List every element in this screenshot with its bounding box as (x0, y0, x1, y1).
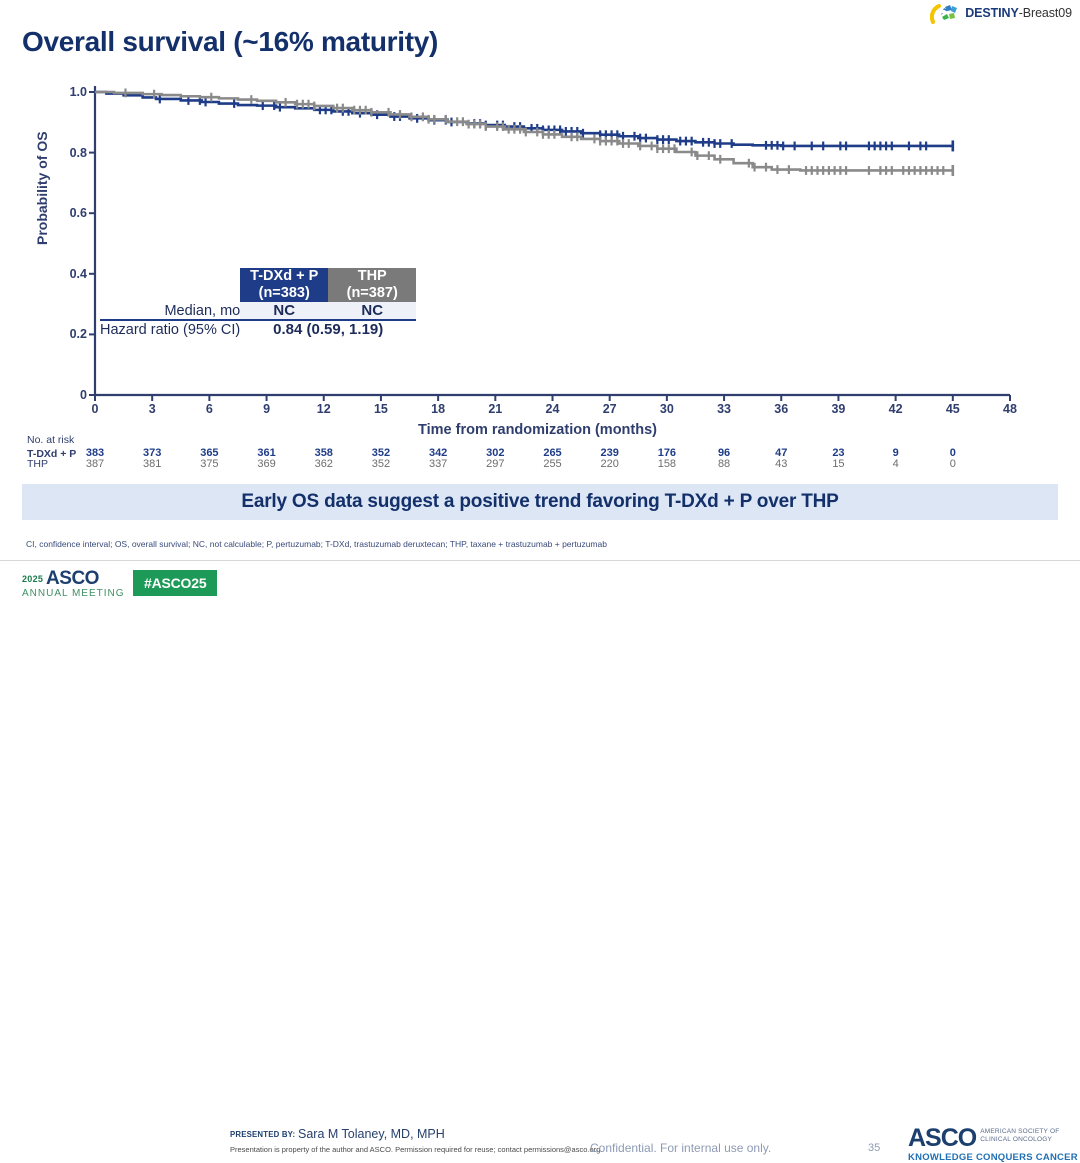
median-label: Median, mo (100, 302, 240, 320)
risk-value: 43 (775, 458, 787, 470)
risk-value: 0 (950, 458, 956, 470)
slide-root: DESTINY-Breast09 Overall survival (~16% … (0, 0, 1080, 608)
km-line (95, 92, 953, 146)
statistics-legend-table: T-DXd + P (n=383) THP (n=387) Median, mo… (100, 268, 416, 338)
y-tick-label: 1.0 (55, 85, 87, 99)
x-tick-label: 45 (946, 402, 960, 416)
risk-value: 88 (718, 458, 730, 470)
x-tick-label: 3 (149, 402, 156, 416)
risk-value: 337 (429, 458, 447, 470)
arm2-n: (n=387) (328, 285, 416, 302)
x-tick-label: 39 (831, 402, 845, 416)
permission-notice: Presentation is property of the author a… (230, 1145, 602, 1154)
x-tick-label: 15 (374, 402, 388, 416)
conclusion-text: Early OS data suggest a positive trend f… (241, 491, 838, 513)
risk-value: 387 (86, 458, 104, 470)
median-arm1-value: NC (240, 302, 328, 320)
y-tick-label: 0.4 (55, 267, 87, 281)
median-row: Median, mo NC NC (100, 302, 416, 320)
arm1-name: T-DXd + P (240, 268, 328, 285)
slide-number: 35 (868, 1142, 880, 1154)
x-tick-label: 33 (717, 402, 731, 416)
risk-value: 381 (143, 458, 161, 470)
hazard-ratio-row: Hazard ratio (95% CI) 0.84 (0.59, 1.19) (100, 320, 416, 338)
risk-value: 15 (832, 458, 844, 470)
x-tick-label: 30 (660, 402, 674, 416)
meeting-logo-line2: ANNUAL MEETING (22, 589, 125, 599)
risk-value: 220 (601, 458, 619, 470)
risk-table-caption: No. at risk (27, 434, 74, 446)
asco-tagline: KNOWLEDGE CONQUERS CANCER (908, 1153, 1078, 1163)
x-tick-label: 36 (774, 402, 788, 416)
risk-value: 4 (893, 458, 899, 470)
risk-row2-label: THP (27, 458, 48, 470)
arm2-header: THP (n=387) (328, 268, 416, 302)
asco-logo: ASCOAMERICAN SOCIETY OFCLINICAL ONCOLOGY… (908, 1126, 1078, 1163)
presented-by-label: PRESENTED BY: (230, 1130, 295, 1139)
abbreviations-footnote: CI, confidence interval; OS, overall sur… (26, 539, 607, 549)
destiny-arc-icon (930, 2, 960, 24)
risk-value: 369 (257, 458, 275, 470)
conclusion-banner: Early OS data suggest a positive trend f… (22, 484, 1058, 520)
asco-wordmark: ASCO (908, 1124, 976, 1152)
x-tick-label: 9 (263, 402, 270, 416)
y-axis-title: Probability of OS (34, 131, 50, 245)
arm1-header: T-DXd + P (n=383) (240, 268, 328, 302)
arm2-name: THP (328, 268, 416, 285)
x-tick-label: 18 (431, 402, 445, 416)
x-tick-label: 12 (317, 402, 331, 416)
x-tick-label: 21 (488, 402, 502, 416)
x-tick-label: 24 (546, 402, 560, 416)
destiny-breast09-logo: DESTINY-Breast09 (930, 2, 1072, 24)
presenter-name: Sara M Tolaney, MD, MPH (298, 1127, 445, 1141)
y-tick-label: 0 (55, 388, 87, 402)
x-tick-label: 42 (889, 402, 903, 416)
x-tick-label: 0 (92, 402, 99, 416)
km-curve-1 (95, 92, 953, 151)
stats-header-row: T-DXd + P (n=383) THP (n=387) (100, 268, 416, 302)
km-survival-chart: Probability of OS Time from randomizatio… (0, 70, 1080, 435)
hazard-ratio-value: 0.84 (0.59, 1.19) (240, 320, 416, 338)
y-tick-label: 0.6 (55, 206, 87, 220)
asco-annual-meeting-logo: 2025 ASCO ANNUAL MEETING (22, 569, 125, 599)
number-at-risk-table: No. at risk T-DXd + P THP 38338737338136… (0, 434, 1080, 480)
risk-value: 362 (315, 458, 333, 470)
hazard-ratio-label: Hazard ratio (95% CI) (100, 320, 240, 338)
risk-value: 297 (486, 458, 504, 470)
x-tick-label: 6 (206, 402, 213, 416)
y-tick-label: 0.8 (55, 146, 87, 160)
risk-value: 352 (372, 458, 390, 470)
y-tick-label: 0.2 (55, 327, 87, 341)
page-title: Overall survival (~16% maturity) (22, 26, 438, 58)
arm1-n: (n=383) (240, 285, 328, 302)
confidentiality-notice: Confidential. For internal use only. (590, 1141, 771, 1155)
median-arm2-value: NC (328, 302, 416, 320)
km-plot-canvas (0, 70, 1080, 435)
study-logo-label: DESTINY-Breast09 (965, 6, 1072, 20)
asco-fullname: AMERICAN SOCIETY OFCLINICAL ONCOLOGY (980, 1128, 1059, 1144)
risk-value: 158 (658, 458, 676, 470)
slide-footer: 2025 ASCO ANNUAL MEETING #ASCO25 PRESENT… (0, 560, 1080, 608)
x-tick-label: 48 (1003, 402, 1017, 416)
risk-value: 255 (543, 458, 561, 470)
km-curve-2 (95, 89, 953, 176)
meeting-logo-line1: 2025 ASCO (22, 569, 125, 588)
x-tick-label: 27 (603, 402, 617, 416)
risk-value: 375 (200, 458, 218, 470)
hashtag-badge: #ASCO25 (133, 570, 217, 596)
